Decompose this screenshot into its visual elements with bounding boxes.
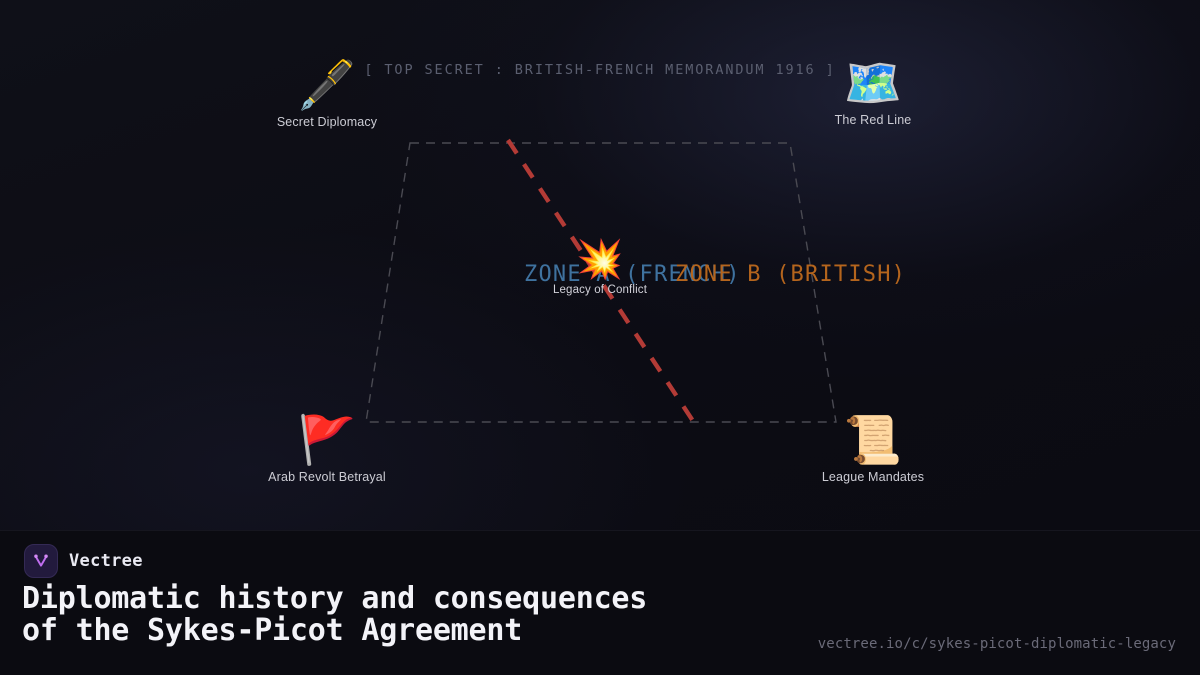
brand-lockup[interactable]: Vectree [24,544,143,578]
node-label-secret-diplomacy: Secret Diplomacy [242,115,412,129]
node-legacy-of-conflict[interactable]: 💥 Legacy of Conflict [515,240,685,296]
page-title: Diplomatic history and consequences of t… [22,583,812,648]
node-label-legacy-of-conflict: Legacy of Conflict [515,284,685,296]
node-secret-diplomacy[interactable]: 🖋️ Secret Diplomacy [242,62,412,129]
page-title-line-1: Diplomatic history and consequences [22,583,812,615]
world-map-icon: 🗺️ [788,60,958,107]
brand-name: Vectree [69,551,143,571]
node-label-red-line: The Red Line [788,113,958,127]
page-title-line-2: of the Sykes-Picot Agreement [22,615,812,647]
node-arab-revolt-betrayal[interactable]: 🚩 Arab Revolt Betrayal [242,417,412,484]
footer-bar: Vectree Diplomatic history and consequen… [0,530,1200,675]
node-label-arab-revolt-betrayal: Arab Revolt Betrayal [242,470,412,484]
zone-label-british: ZONE B (BRITISH) [675,262,906,287]
red-flag-icon: 🚩 [242,417,412,464]
footer-url: vectree.io/c/sykes-picot-diplomatic-lega… [818,636,1176,652]
node-league-mandates[interactable]: 📜 League Mandates [788,417,958,484]
node-red-line[interactable]: 🗺️ The Red Line [788,60,958,127]
fountain-pen-icon: 🖋️ [242,62,412,109]
collision-icon: 💥 [515,240,685,278]
node-label-league-mandates: League Mandates [788,470,958,484]
vectree-logo-icon [24,544,58,578]
top-secret-banner: [ TOP SECRET : BRITISH-FRENCH MEMORANDUM… [0,62,1200,78]
scroll-icon: 📜 [788,417,958,464]
diagram-canvas: [ TOP SECRET : BRITISH-FRENCH MEMORANDUM… [0,0,1200,530]
